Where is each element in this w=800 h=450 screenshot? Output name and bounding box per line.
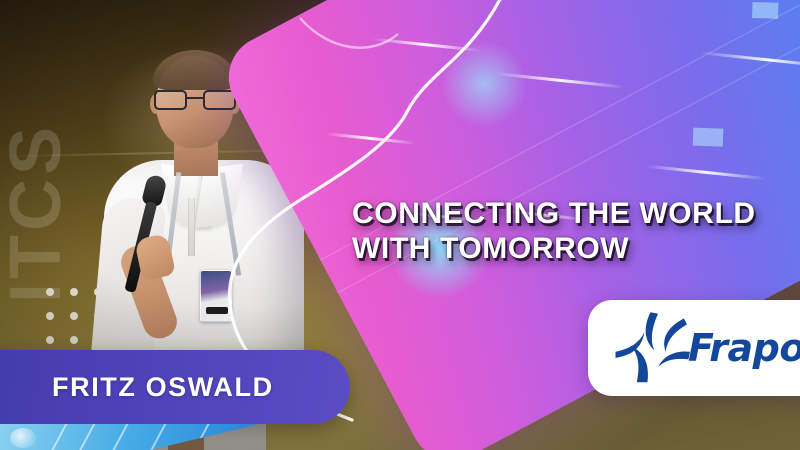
title-line-2: WITH TOMORROW: [352, 231, 792, 266]
globe-icon: [10, 428, 36, 448]
video-thumbnail: ITCS: [0, 0, 800, 450]
brand-logo-card: Fraport: [588, 300, 800, 396]
speaker-name-banner: FRITZ OSWALD: [0, 350, 350, 424]
title-line-1: CONNECTING THE WORLD: [352, 196, 792, 231]
brand-name: Fraport: [688, 326, 800, 370]
fraport-star-icon: [614, 312, 690, 384]
page-title: CONNECTING THE WORLD WITH TOMORROW: [352, 196, 792, 267]
speaker-name: FRITZ OSWALD: [52, 372, 274, 403]
